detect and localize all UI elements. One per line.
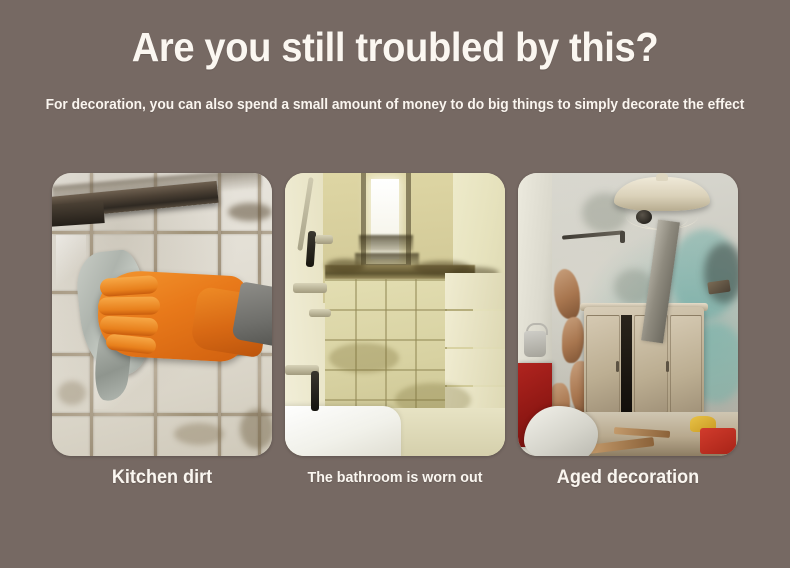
worn-bathroom-image xyxy=(285,173,505,456)
subheadline: For decoration, you can also spend a sma… xyxy=(39,94,752,117)
grout-line-horizontal xyxy=(52,413,272,416)
mould-stain xyxy=(325,259,365,273)
red-container xyxy=(700,428,736,454)
dirt-stain xyxy=(174,423,224,445)
rail-hook xyxy=(620,231,625,243)
glove-finger xyxy=(98,296,160,315)
dirt-stain xyxy=(240,409,272,449)
hand-shower xyxy=(311,371,319,411)
cabinet-handle xyxy=(616,361,619,372)
headline-block: Are you still troubled by this? xyxy=(0,24,790,70)
cabinet-door xyxy=(586,315,620,413)
kitchen-dirt-image xyxy=(52,173,272,456)
caption-kitchen-dirt: Kitchen dirt xyxy=(58,466,267,490)
cabinet-handle xyxy=(666,361,669,372)
panel-aged-decoration[interactable] xyxy=(518,173,738,456)
dirt-stain xyxy=(58,381,86,405)
panel-row xyxy=(52,173,738,456)
promo-poster: Are you still troubled by this? For deco… xyxy=(0,0,790,568)
grout-line-horizontal xyxy=(52,231,272,234)
tap-fixture xyxy=(293,283,327,293)
tile-stain xyxy=(329,343,399,373)
lamp-knob xyxy=(656,173,668,181)
aged-decoration-image xyxy=(518,173,738,456)
side-tile xyxy=(445,273,505,309)
wall-bracket xyxy=(315,235,333,244)
page-title: Are you still troubled by this? xyxy=(28,24,763,70)
tap-fixture xyxy=(309,309,331,317)
cabinet-open-gap xyxy=(621,315,632,415)
bathtub xyxy=(285,406,401,456)
caption-row: Kitchen dirt The bathroom is worn out Ag… xyxy=(52,466,738,494)
panel-kitchen-dirt[interactable] xyxy=(52,173,272,456)
side-tile xyxy=(445,349,505,385)
dirt-stain xyxy=(228,203,272,221)
glove-finger xyxy=(100,315,159,336)
cabinet-door xyxy=(670,315,702,413)
side-tile xyxy=(445,311,505,347)
metal-pot xyxy=(524,331,546,357)
caption-aged-decoration: Aged decoration xyxy=(524,466,733,490)
panel-worn-bathroom[interactable] xyxy=(285,173,505,456)
caption-worn-bathroom: The bathroom is worn out xyxy=(291,466,500,490)
dirty-ledge-shadow xyxy=(52,201,105,227)
window-mould xyxy=(359,235,413,251)
